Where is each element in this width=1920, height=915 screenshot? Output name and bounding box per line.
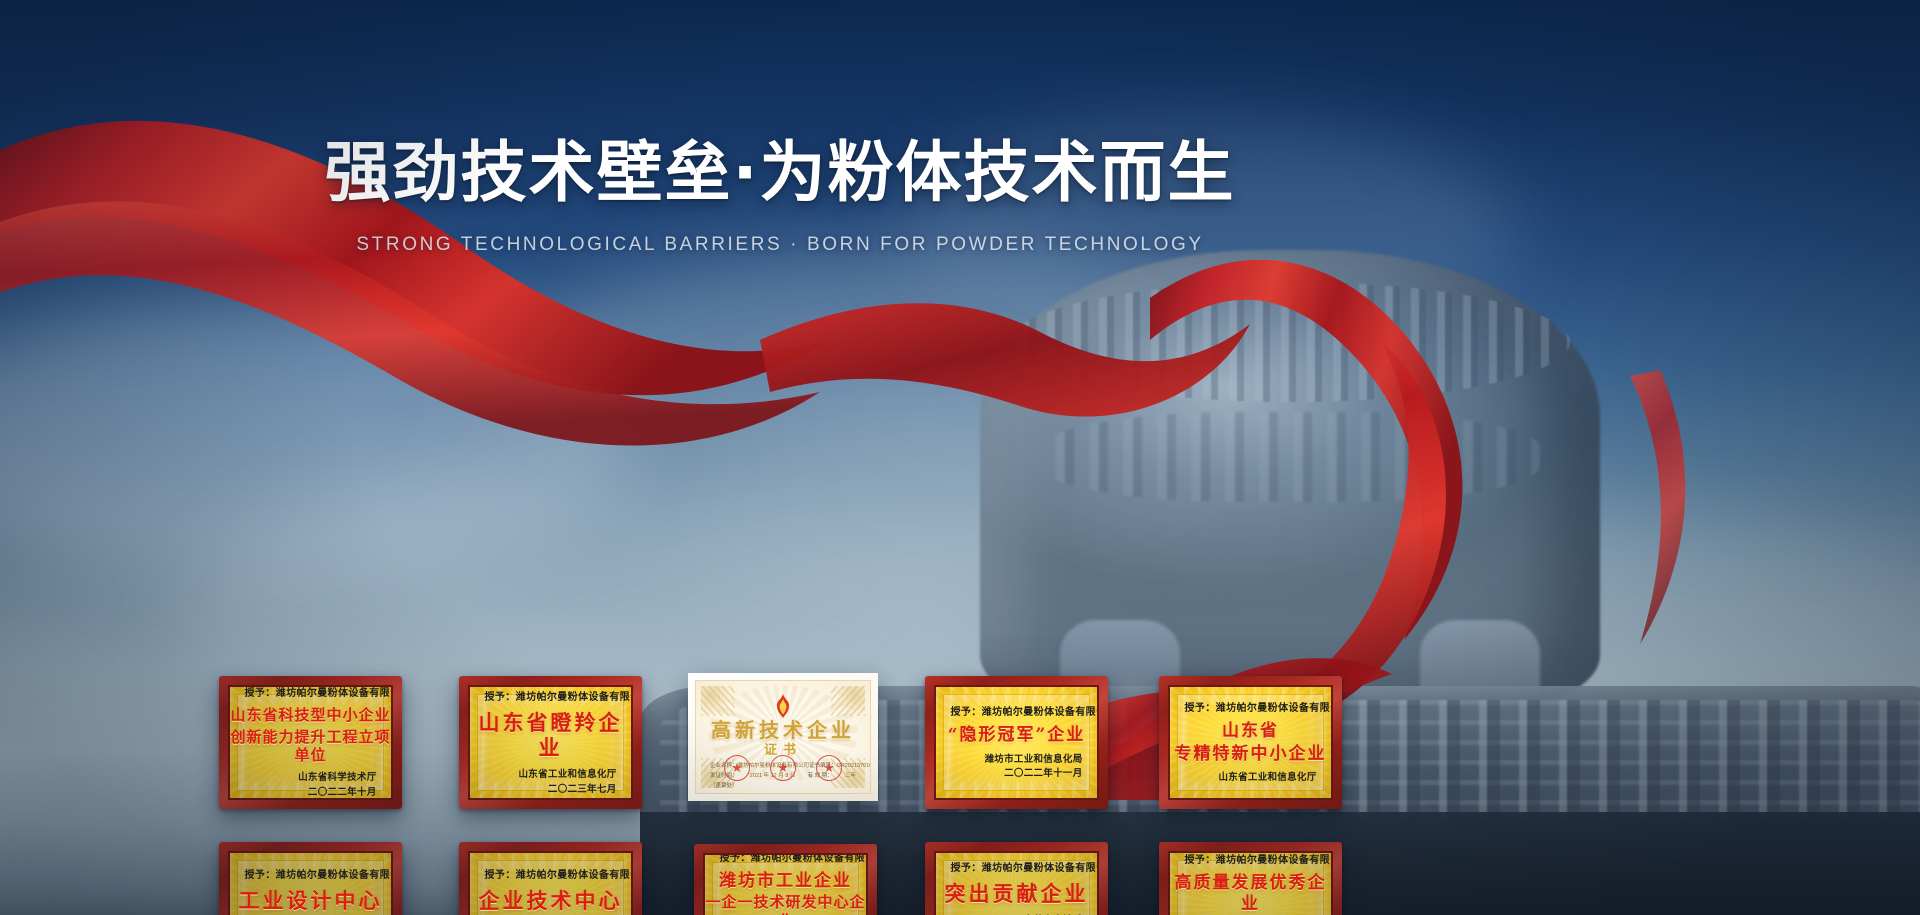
plaque-card[interactable]: 授予：潍坊帕尔曼粉体设备有限公司 潍坊市工业企业 一企一技术研发中心企业 潍坊市… xyxy=(694,844,877,915)
plaque-awardee: 授予：潍坊帕尔曼粉体设备有限公司 xyxy=(1170,851,1331,866)
plaque-card[interactable]: 授予：潍坊帕尔曼粉体设备有限公司 工业设计中心 潍坊市发展和改革委员会 二〇二二… xyxy=(219,842,402,915)
plaque-awardee: 授予：潍坊帕尔曼粉体设备有限公司 xyxy=(470,866,631,881)
plaque-card[interactable]: 授予：潍坊帕尔曼粉体设备有限公司 企业技术中心 潍坊市发展和改革委员会 二〇二二… xyxy=(459,842,642,915)
plaque-awardee: 授予：潍坊帕尔曼粉体设备有限公司 xyxy=(1170,699,1331,714)
plaque-issuer-line1: 潍坊市工业和信息化局 xyxy=(936,753,1097,768)
plaque-title-line1: 突出贡献企业 xyxy=(936,881,1097,907)
plaque-title-line1: “隐形冠军”企业 xyxy=(936,725,1097,746)
official-seal-icon: ★ xyxy=(724,755,750,781)
plaque-issuer-line2: 二〇二三年七月 xyxy=(470,783,631,798)
plaque-awardee: 授予：潍坊帕尔曼粉体设备有限公司 xyxy=(230,685,391,699)
plaque-awardee: 授予：潍坊帕尔曼粉体设备有限公司 xyxy=(936,703,1097,718)
page-subtitle: STRONG TECHNOLOGICAL BARRIERS · BORN FOR… xyxy=(0,234,1560,256)
plaque-title-line2: 创新能力提升工程立项单位 xyxy=(230,728,391,765)
plaque-awardee: 授予：潍坊帕尔曼粉体设备有限公司 xyxy=(705,853,866,864)
plaque-inner: 授予：潍坊帕尔曼粉体设备有限公司 山东省 专精特新中小企业 山东省工业和信息化厅 xyxy=(1168,685,1333,800)
plaque-title-line1: 工业设计中心 xyxy=(230,888,391,914)
plaque-card[interactable]: 授予：潍坊帕尔曼粉体设备有限公司 山东省科技型中小企业 创新能力提升工程立项单位… xyxy=(219,676,402,809)
plaque-inner: 授予：潍坊帕尔曼粉体设备有限公司 山东省科技型中小企业 创新能力提升工程立项单位… xyxy=(228,685,393,800)
plaque-title-line1: 山东省瞪羚企业 xyxy=(470,710,631,761)
plaque-title-line1: 企业技术中心 xyxy=(470,888,631,914)
plaque-title-line2: 专精特新中小企业 xyxy=(1170,744,1331,765)
plaque-awardee: 授予：潍坊帕尔曼粉体设备有限公司 xyxy=(936,859,1097,874)
plaque-card[interactable]: 授予：潍坊帕尔曼粉体设备有限公司 山东省瞪羚企业 山东省工业和信息化厅 二〇二三… xyxy=(459,676,642,809)
plaque-card[interactable]: 授予：潍坊帕尔曼粉体设备有限公司 “隐形冠军”企业 潍坊市工业和信息化局 二〇二… xyxy=(925,676,1108,809)
high-tech-certificate[interactable]: 高新技术企业 证书 企业名称： 潍坊帕尔曼粉体设备有限公司 证书编号： GR20… xyxy=(688,673,878,801)
plaque-title-line1: 潍坊市工业企业 xyxy=(705,871,866,892)
plaque-issuer-line2: 二〇二二年十月 xyxy=(230,786,391,800)
plaque-issuer-line1: 山东省工业和信息化厅 xyxy=(470,768,631,783)
plaque-title-line1: 山东省 xyxy=(1170,721,1331,742)
plaque-inner: 授予：潍坊帕尔曼粉体设备有限公司 潍坊市工业企业 一企一技术研发中心企业 潍坊市… xyxy=(703,853,868,915)
plaque-inner: 授予：潍坊帕尔曼粉体设备有限公司 企业技术中心 潍坊市发展和改革委员会 二〇二二… xyxy=(468,851,633,915)
banner-stage: 强劲技术壁垒·为粉体技术而生 STRONG TECHNOLOGICAL BARR… xyxy=(0,0,1920,915)
plaque-inner: 授予：潍坊帕尔曼粉体设备有限公司 山东省瞪羚企业 山东省工业和信息化厅 二〇二三… xyxy=(468,685,633,800)
page-title: 强劲技术壁垒·为粉体技术而生 xyxy=(0,136,1560,210)
plaque-inner: 授予：潍坊帕尔曼粉体设备有限公司 “隐形冠军”企业 潍坊市工业和信息化局 二〇二… xyxy=(934,685,1099,800)
certificate-seals: ★ ★ ★ xyxy=(696,755,870,781)
plaque-inner: 授予：潍坊帕尔曼粉体设备有限公司 工业设计中心 潍坊市发展和改革委员会 二〇二二… xyxy=(228,851,393,915)
honor-plaque-grid: 授予：潍坊帕尔曼粉体设备有限公司 山东省科技型中小企业 创新能力提升工程立项单位… xyxy=(0,336,1920,636)
plaque-card[interactable]: 授予：潍坊帕尔曼粉体设备有限公司 山东省 专精特新中小企业 山东省工业和信息化厅 xyxy=(1159,676,1342,809)
bronze-vessel-leg xyxy=(1420,620,1540,830)
plaque-title-line2: 一企一技术研发中心企业 xyxy=(705,893,866,915)
plaque-issuer-line1: 山东省工业和信息化厅 xyxy=(1170,771,1331,786)
plaque-title-line1: 山东省科技型中小企业 xyxy=(230,706,391,724)
plaque-inner: 授予：潍坊帕尔曼粉体设备有限公司 高质量发展优秀企业 新安街道党工委 新安街道办… xyxy=(1168,851,1333,915)
plaque-awardee: 授予：潍坊帕尔曼粉体设备有限公司 xyxy=(470,688,631,703)
seal-label: （盖章处） xyxy=(710,781,738,791)
certificate-inner: 高新技术企业 证书 企业名称： 潍坊帕尔曼粉体设备有限公司 证书编号： GR20… xyxy=(695,680,871,794)
official-seal-icon: ★ xyxy=(770,755,796,781)
cloud-layer xyxy=(900,120,1520,340)
official-seal-icon: ★ xyxy=(816,755,842,781)
plaque-awardee: 授予：潍坊帕尔曼粉体设备有限公司 xyxy=(230,866,391,881)
field-row: （盖章处） xyxy=(710,781,856,791)
plaque-card[interactable]: 授予：潍坊帕尔曼粉体设备有限公司 突出贡献企业 中共官庄镇委 官庄镇人民政府 二… xyxy=(925,842,1108,915)
plaque-card[interactable]: 授予：潍坊帕尔曼粉体设备有限公司 高质量发展优秀企业 新安街道党工委 新安街道办… xyxy=(1159,842,1342,915)
plaque-issuer-line1: 山东省科学技术厅 xyxy=(230,771,391,786)
plaque-inner: 授予：潍坊帕尔曼粉体设备有限公司 突出贡献企业 中共官庄镇委 官庄镇人民政府 二… xyxy=(934,851,1099,915)
plaque-issuer-line2: 二〇二二年十一月 xyxy=(936,767,1097,782)
headline-block: 强劲技术壁垒·为粉体技术而生 STRONG TECHNOLOGICAL BARR… xyxy=(0,136,1560,256)
plaque-title-line1: 高质量发展优秀企业 xyxy=(1170,873,1331,914)
